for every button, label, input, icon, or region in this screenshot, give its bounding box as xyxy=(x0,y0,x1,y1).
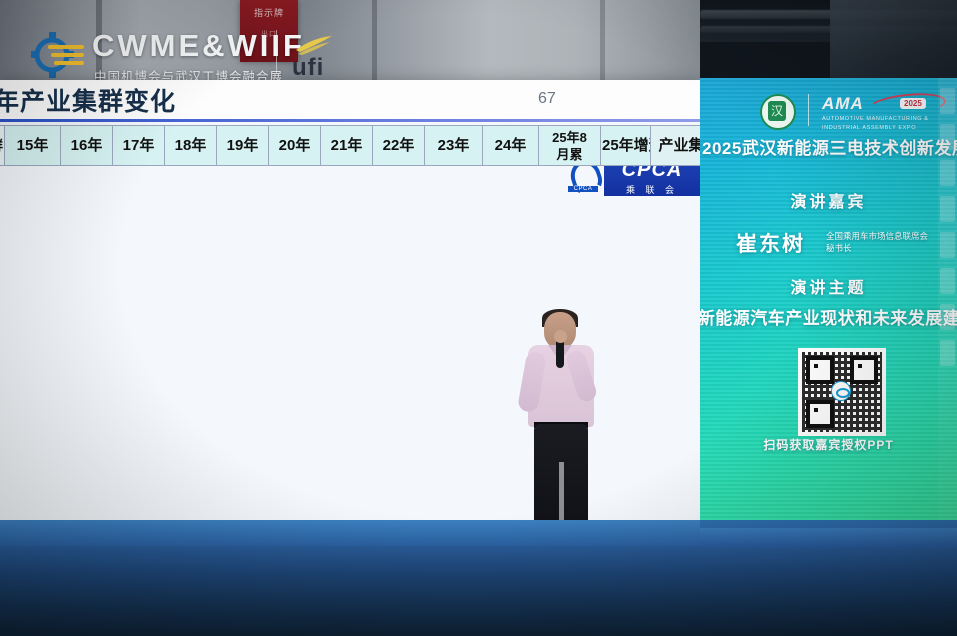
guest-organization: 全国乘用车市场信息联席会 秘书长 xyxy=(826,230,946,254)
ufi-wing-icon xyxy=(292,34,336,56)
ama-year-badge: 2025 xyxy=(900,98,926,109)
banner-brand-title: CWME&WIIF xyxy=(92,28,305,64)
topic-text: 新能源汽车产业现状和未来发展建 xyxy=(700,304,957,329)
guest-label: 演讲嘉宾 xyxy=(700,188,957,212)
topic-label: 演讲主题 xyxy=(700,274,957,298)
logo-divider xyxy=(808,94,809,126)
slide-title: 年产业集群变化 xyxy=(0,82,176,118)
conference-title: 2025武汉新能源三电技术创新发展大会 xyxy=(702,134,957,159)
column-header: 20年 xyxy=(269,126,321,166)
column-header: 15年 xyxy=(5,126,61,166)
backdrop-logo-row: 汉 AMA 2025 AUTOMOTIVE MANUFACTURING & IN… xyxy=(716,92,944,128)
slide-page-number: 67 xyxy=(538,90,556,108)
guest-org-line2: 秘书长 xyxy=(826,242,946,254)
qr-caption: 扫码获取嘉宾授权PPT xyxy=(700,436,957,453)
guest-name: 崔东树 xyxy=(736,228,805,258)
column-header: 19年 xyxy=(217,126,269,166)
column-header: 22年 xyxy=(373,126,425,166)
column-header: 25年8月累 xyxy=(539,126,601,166)
wuhan-seal-icon: 汉 xyxy=(760,94,796,130)
qr-code[interactable] xyxy=(798,348,886,436)
cluster-volume-table: 群15年16年17年18年19年20年21年22年23年24年25年8月累25年… xyxy=(0,125,727,166)
column-header: 23年 xyxy=(425,126,483,166)
table-header-row: 群15年16年17年18年19年20年21年22年23年24年25年8月累25年… xyxy=(0,126,727,166)
event-banner-lockup: CWME&WIIF 中国机博会与武汉工博会融合展 ufi xyxy=(30,28,360,84)
wall-seam xyxy=(600,0,605,92)
qr-eye-topleft xyxy=(806,356,834,384)
slide-title-underline xyxy=(0,119,700,122)
column-header: 18年 xyxy=(165,126,217,166)
ama-subtitle-line1: AUTOMOTIVE MANUFACTURING & xyxy=(822,116,952,123)
wall-seam xyxy=(372,0,377,92)
qr-center-logo-icon xyxy=(831,381,851,401)
qr-eye-topright xyxy=(850,356,878,384)
venue-wall: 指示牌 出口 CWME&WIIF 中国机 xyxy=(0,0,700,92)
ama-logo: AMA 2025 AUTOMOTIVE MANUFACTURING & INDU… xyxy=(822,94,952,132)
cpca-sub-text: 乘 联 会 xyxy=(604,183,700,196)
ama-title: AMA xyxy=(822,94,864,113)
speaker-hand xyxy=(554,330,567,343)
qr-eye-bottomleft xyxy=(806,400,834,428)
column-header: 21年 xyxy=(321,126,373,166)
column-header: 17年 xyxy=(113,126,165,166)
cpca-mark-text: CPCA xyxy=(568,186,598,192)
column-header: 24年 xyxy=(483,126,539,166)
red-sign-text: 指示牌 xyxy=(240,6,298,19)
screenshot-root: 指示牌 出口 CWME&WIIF 中国机 xyxy=(0,0,957,636)
banner-divider xyxy=(276,30,277,74)
ufi-label: ufi xyxy=(292,54,324,82)
audience-crowd xyxy=(0,452,957,636)
guest-org-line1: 全国乘用车市场信息联席会 xyxy=(826,230,946,242)
seal-character: 汉 xyxy=(768,101,786,121)
column-header: 16年 xyxy=(61,126,113,166)
column-header: 25年增速 xyxy=(601,126,651,166)
gear-logo-icon xyxy=(30,30,86,80)
ama-subtitle-line2: INDUSTRIAL ASSEMBLY EXPO xyxy=(822,125,952,132)
